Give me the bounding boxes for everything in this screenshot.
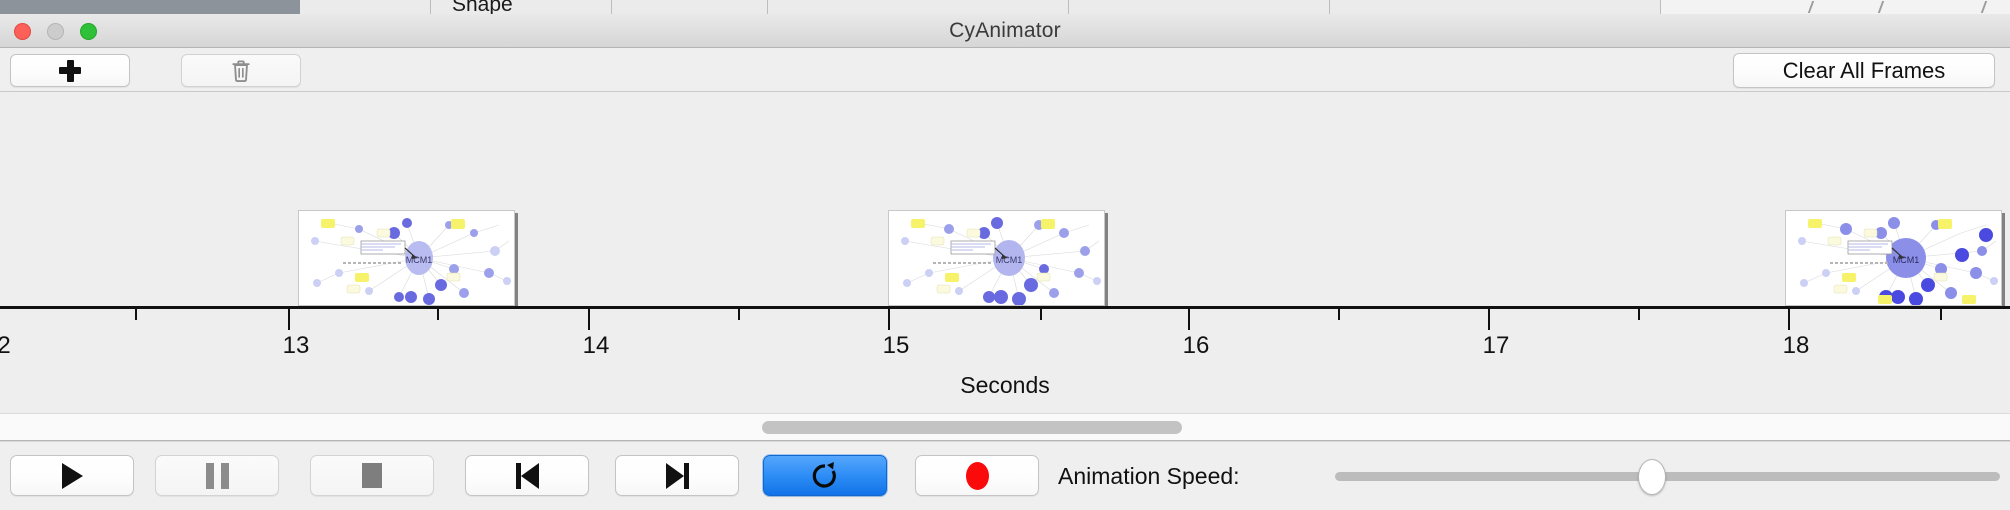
cyanimator-window: Shape CyAnimator Clear All Frames: [0, 0, 2010, 510]
title-bar: CyAnimator: [0, 14, 2010, 48]
horizontal-scrollbar[interactable]: [0, 413, 2010, 441]
background-window-tick: [1808, 1, 1814, 13]
ruler-label: 16: [1183, 332, 1210, 360]
animation-speed-slider[interactable]: [1335, 472, 2000, 481]
svg-text:MCM1: MCM1: [1893, 255, 1920, 265]
background-window-strip: Shape: [0, 0, 2010, 15]
playback-control-bar: Animation Speed:: [0, 441, 2010, 510]
ruler-label: 17: [1483, 332, 1510, 360]
ruler-tick-major: [588, 309, 590, 330]
next-frame-button[interactable]: [615, 455, 739, 496]
background-window-tick: [1878, 1, 1884, 13]
clear-all-frames-button[interactable]: Clear All Frames: [1733, 53, 1995, 88]
ruler-tick-minor: [1638, 309, 1640, 320]
pause-button[interactable]: [155, 455, 279, 496]
ruler-tick-major: [1488, 309, 1490, 330]
frame-thumbnail[interactable]: MCM1: [888, 210, 1105, 306]
background-window-tick: [1981, 1, 1987, 13]
ruler-axis-title: Seconds: [0, 372, 2010, 399]
animation-speed-label: Animation Speed:: [1058, 442, 1240, 510]
background-window-cell: [768, 0, 1069, 14]
skip-next-icon: [666, 463, 689, 489]
ruler-tick-minor: [738, 309, 740, 320]
play-button[interactable]: [10, 455, 134, 496]
ruler-tick-minor: [1338, 309, 1340, 320]
plus-icon: [59, 60, 81, 82]
timeline-panel[interactable]: MCM1: [0, 92, 2010, 413]
ruler-tick-minor: [437, 309, 439, 320]
trash-icon: [230, 59, 252, 83]
record-icon: [966, 462, 989, 490]
svg-text:MCM1: MCM1: [406, 255, 433, 265]
background-window-cell: [1330, 0, 1661, 14]
timeline-ruler[interactable]: 2 13 14 15 16 17 18 Seconds: [0, 306, 2010, 413]
ruler-tick-major: [288, 309, 290, 330]
loop-icon: [810, 461, 840, 491]
record-button[interactable]: [915, 455, 1039, 496]
ruler-tick-minor: [135, 309, 137, 320]
background-window-cell: [300, 0, 431, 14]
ruler-label: 18: [1783, 332, 1810, 360]
ruler-label: 2: [0, 332, 11, 360]
slider-thumb[interactable]: [1638, 459, 1666, 495]
scrollbar-thumb[interactable]: [762, 421, 1182, 434]
background-window-cell: [1069, 0, 1330, 14]
stop-button[interactable]: [310, 455, 434, 496]
stop-icon: [362, 463, 382, 488]
previous-frame-button[interactable]: [465, 455, 589, 496]
play-icon: [62, 463, 83, 489]
background-window-dark-area: [0, 0, 300, 14]
ruler-label: 15: [883, 332, 910, 360]
ruler-baseline: [0, 306, 2010, 309]
window-title: CyAnimator: [0, 14, 2010, 48]
svg-text:MCM1: MCM1: [996, 255, 1023, 265]
pause-icon: [206, 463, 229, 489]
ruler-label: 13: [283, 332, 310, 360]
ruler-tick-major: [1788, 309, 1790, 330]
slider-track[interactable]: [1335, 472, 2000, 481]
ruler-tick-major: [1188, 309, 1190, 330]
ruler-tick-minor: [1940, 309, 1942, 320]
ruler-tick-major: [888, 309, 890, 330]
frame-thumbnail[interactable]: MCM1: [1785, 210, 2002, 306]
ruler-tick-minor: [1040, 309, 1042, 320]
background-window-label: Shape: [452, 0, 513, 15]
frame-thumbnail[interactable]: MCM1: [298, 210, 515, 306]
frames-area[interactable]: MCM1: [0, 92, 2010, 307]
add-frame-button[interactable]: [10, 54, 130, 87]
delete-frame-button[interactable]: [181, 54, 301, 87]
background-window-cell: [612, 0, 768, 14]
skip-previous-icon: [516, 463, 539, 489]
loop-button[interactable]: [763, 455, 887, 496]
frames-toolbar: Clear All Frames: [0, 48, 2010, 92]
ruler-label: 14: [583, 332, 610, 360]
